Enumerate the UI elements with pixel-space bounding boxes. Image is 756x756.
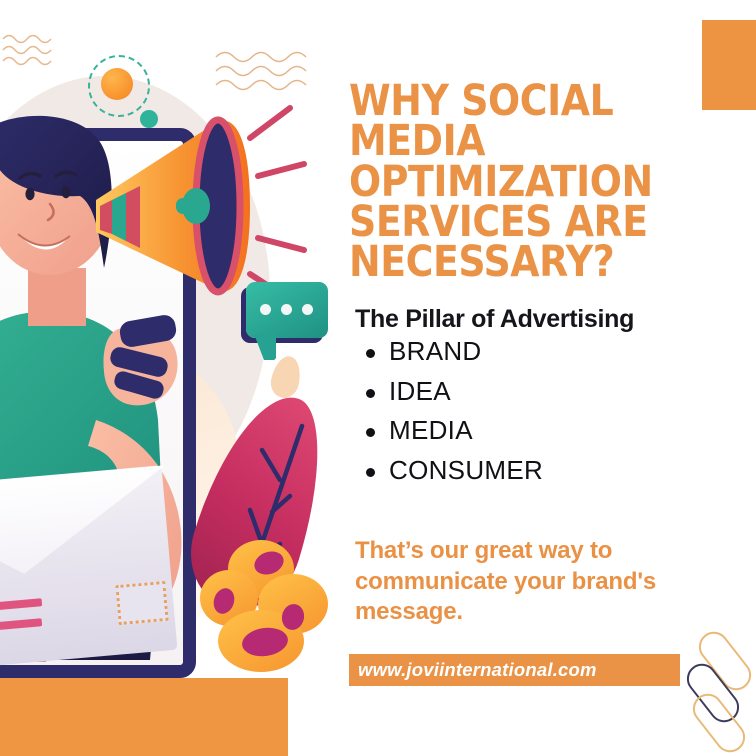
postage-stamp-icon — [115, 581, 168, 625]
list-item: CONSUMER — [389, 451, 543, 491]
accent-block-bottom-left — [0, 678, 288, 756]
clip-decoration-group — [690, 628, 756, 756]
illustration-panel — [0, 0, 340, 756]
tagline-text: That’s our great way to communicate your… — [355, 536, 685, 628]
chat-dot — [281, 304, 292, 315]
list-item: MEDIA — [389, 411, 543, 451]
pillar-list: BRAND IDEA MEDIA CONSUMER — [361, 332, 543, 490]
clip-light-bottom-icon — [687, 688, 751, 756]
website-url-label: www.joviinternational.com — [349, 659, 597, 681]
chat-dot — [260, 304, 271, 315]
list-item: IDEA — [389, 372, 543, 412]
poster-canvas: WHY SOCIAL MEDIA OPTIMIZATION SERVICES A… — [0, 0, 756, 756]
chat-bubble-icon — [246, 282, 328, 338]
page-title: WHY SOCIAL MEDIA OPTIMIZATION SERVICES A… — [349, 81, 666, 283]
flower-shape — [200, 540, 336, 680]
website-url-bar[interactable]: www.joviinternational.com — [349, 654, 680, 686]
section-subheading: The Pillar of Advertising — [355, 305, 634, 334]
chat-dot — [302, 304, 313, 315]
list-item: BRAND — [389, 332, 543, 372]
